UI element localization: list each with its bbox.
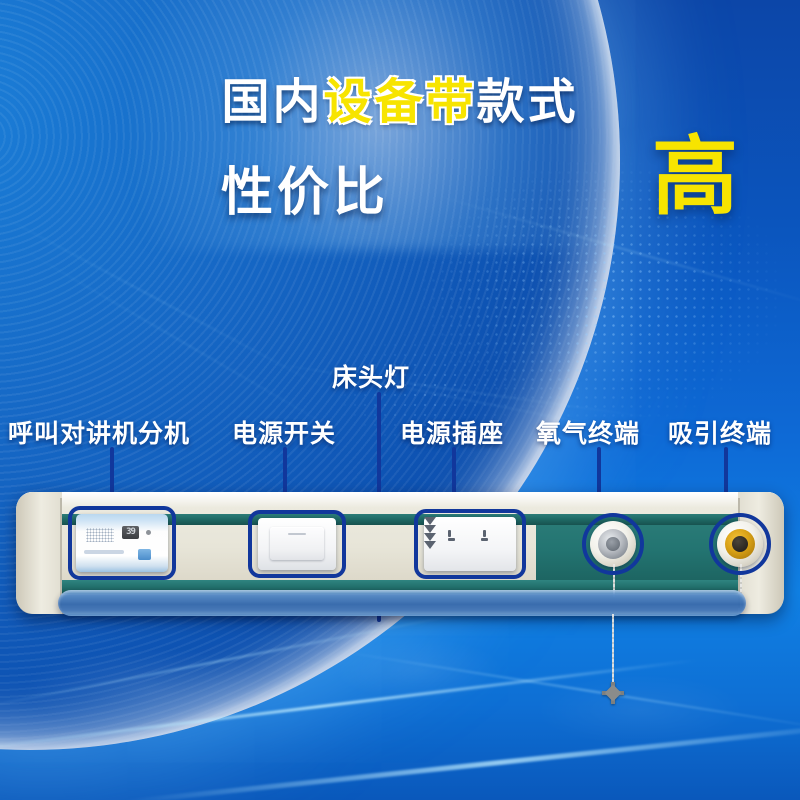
callout-label-oxygen-outlet: 氧气终端	[536, 414, 640, 450]
highlight-circle-oxygen	[582, 513, 644, 575]
highlight-box-switch	[248, 510, 346, 578]
callout-label-call-intercom: 呼叫对讲机分机	[8, 414, 190, 450]
promo-image: 国内设备带款式 性价比 高 呼叫对讲机分机 电源开关 床头灯 电源插座 氧气终端	[0, 0, 800, 800]
callout-label-power-socket: 电源插座	[400, 414, 504, 450]
callout-label-suction-outlet: 吸引终端	[668, 414, 772, 450]
callout-label-power-switch: 电源开关	[232, 414, 336, 450]
pull-cord-weight[interactable]	[602, 682, 624, 704]
callout-labels: 呼叫对讲机分机 电源开关 床头灯 电源插座 氧气终端 吸引终端	[0, 0, 800, 800]
pull-cord[interactable]	[612, 614, 614, 686]
callout-label-bed-lamp: 床头灯	[332, 358, 410, 394]
highlight-box-intercom	[68, 506, 176, 580]
panel-protective-bumper-rail	[58, 590, 746, 616]
panel-end-cap-left	[16, 492, 62, 614]
highlight-box-socket	[414, 509, 526, 579]
highlight-circle-suction	[709, 513, 771, 575]
medical-bedhead-panel: 39	[16, 492, 784, 632]
